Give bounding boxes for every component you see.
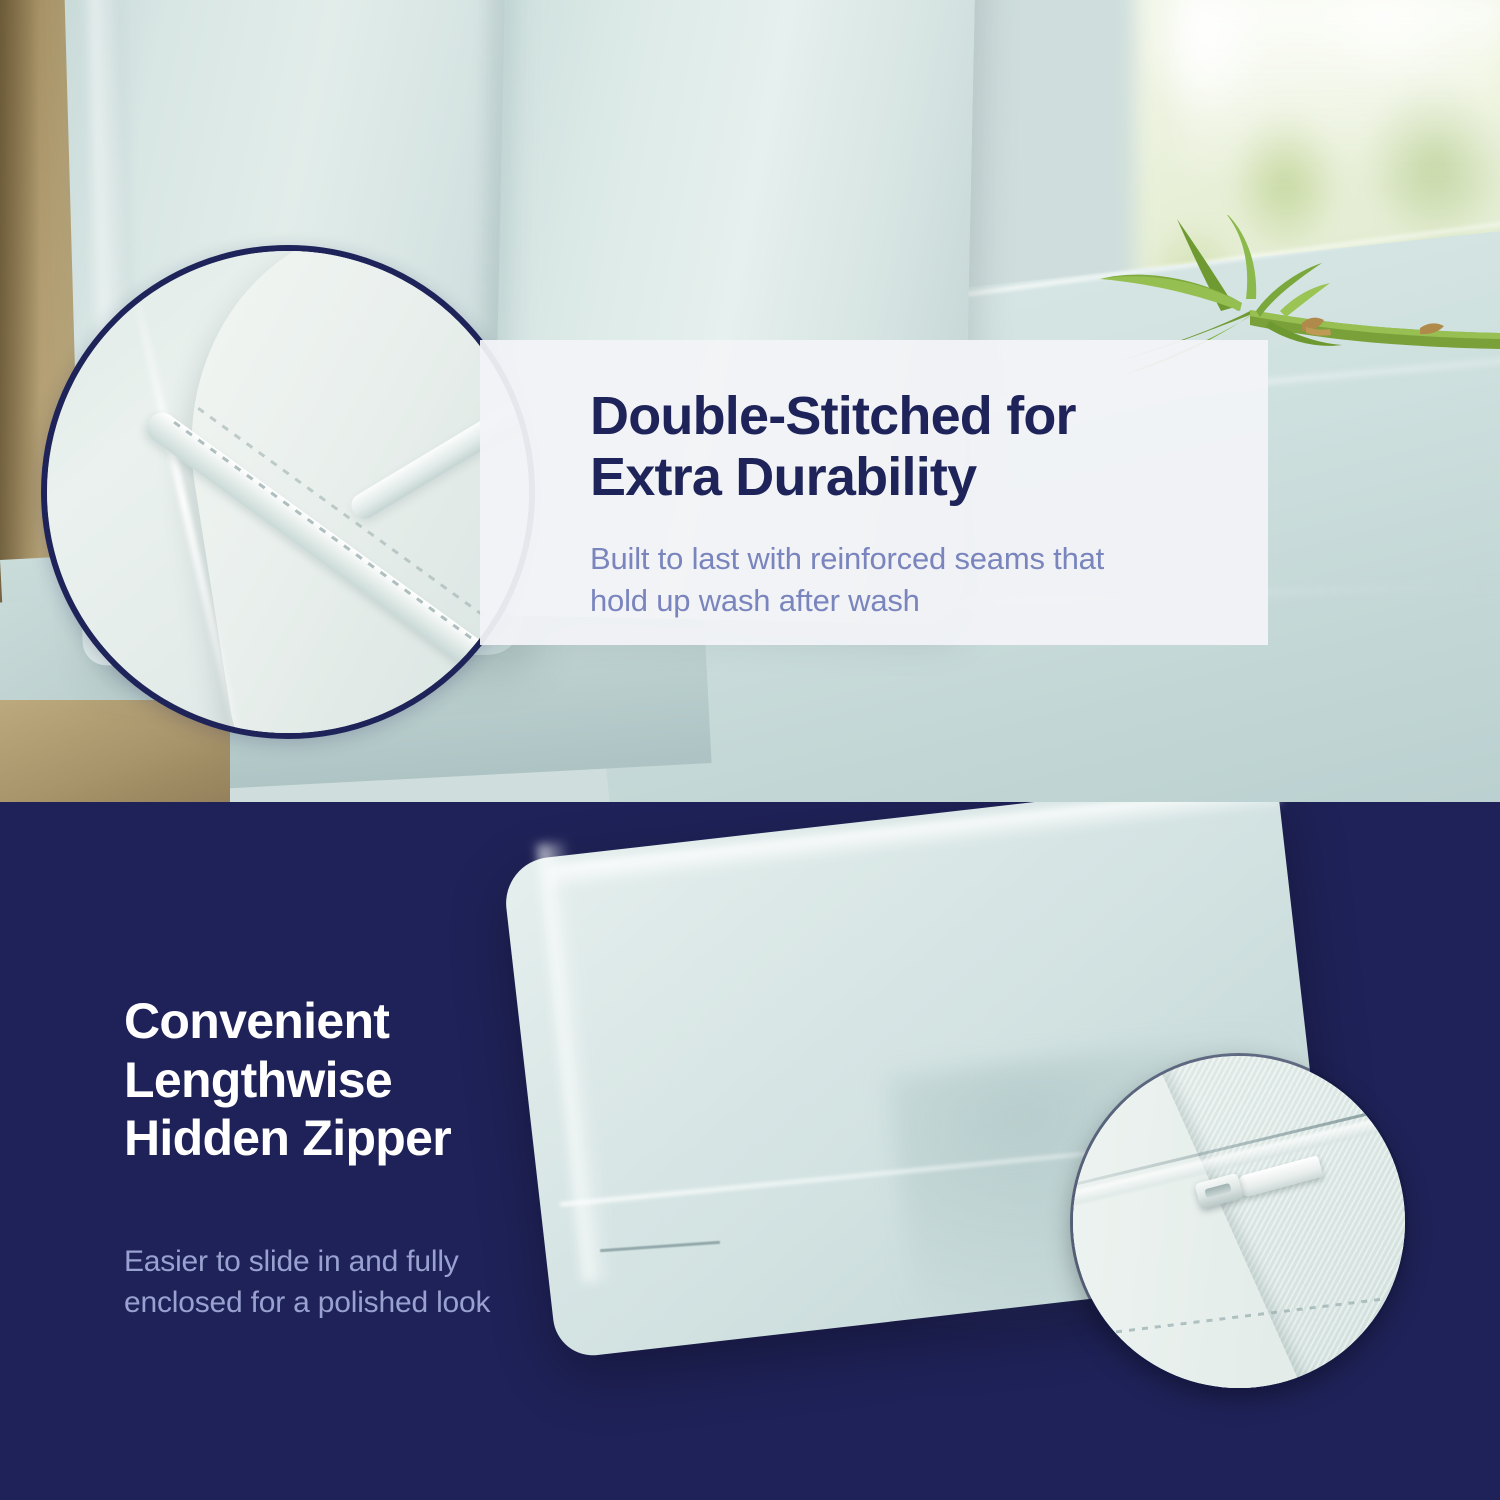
feature-graphic: Double-Stitched for Extra Durability Bui… [0,0,1500,1500]
top-subtitle: Built to last with reinforced seams that… [590,538,1268,622]
top-text-card: Double-Stitched for Extra Durability Bui… [480,340,1268,645]
window-glare [1180,0,1500,190]
bottom-feature-panel: Convenient Lengthwise Hidden Zipper Easi… [0,802,1500,1500]
hidden-zipper-magnifier [1073,1056,1405,1388]
bottom-heading: Convenient Lengthwise Hidden Zipper [124,992,644,1168]
bottom-subtitle: Easier to slide in and fully enclosed fo… [124,1242,594,1323]
top-feature-panel: Double-Stitched for Extra Durability Bui… [0,0,1500,802]
double-stitch-magnifier [41,245,535,739]
top-heading: Double-Stitched for Extra Durability [590,386,1268,508]
